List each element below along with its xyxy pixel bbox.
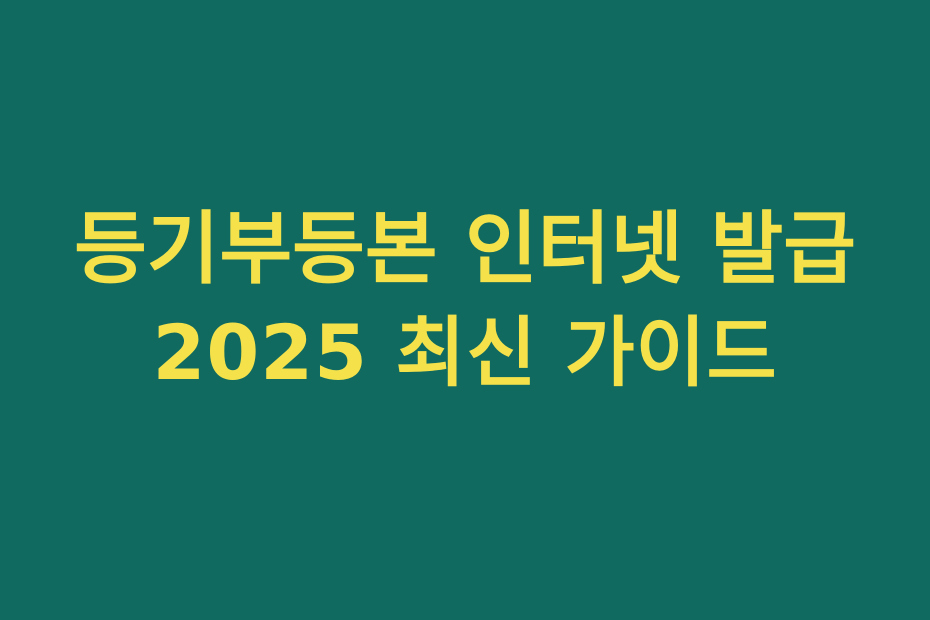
headline-line-primary: 등기부등본 인터넷 발급 — [74, 197, 856, 301]
thumbnail-banner: 등기부등본 인터넷 발급 2025 최신 가이드 — [0, 0, 930, 620]
headline-block: 등기부등본 인터넷 발급 2025 최신 가이드 — [74, 197, 856, 405]
headline-line-secondary: 2025 최신 가이드 — [152, 301, 777, 405]
